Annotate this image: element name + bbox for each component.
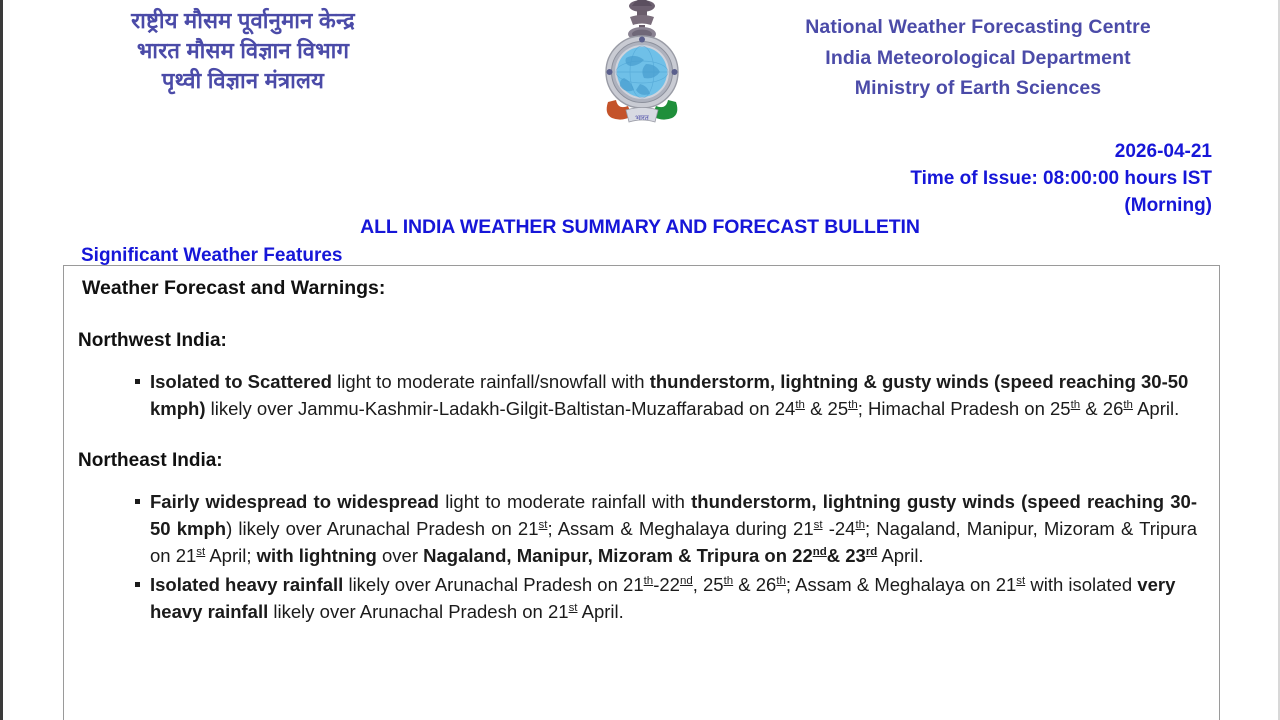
list-item: Fairly widespread to widespread light to… [78,488,1201,569]
issue-period: (Morning) [910,192,1212,219]
english-line-1: National Weather Forecasting Centre [768,12,1188,43]
significant-weather-features-heading: Significant Weather Features [81,245,343,267]
english-line-2: India Meteorological Department [768,43,1188,74]
india-meteorological-department-emblem-icon: भारत [596,0,688,128]
region-heading-northwest-india: Northwest India: [78,328,1201,354]
svg-text:भारत: भारत [635,114,650,122]
region-heading-northeast-india: Northeast India: [78,448,1201,474]
document-header: राष्ट्रीय मौसम पूर्वानुमान केन्द्र भारत … [0,0,1280,128]
issue-date: 2026-04-21 [910,138,1212,165]
bulletin-title: ALL INDIA WEATHER SUMMARY AND FORECAST B… [0,216,1280,239]
hindi-organisation-name: राष्ट्रीय मौसम पूर्वानुमान केन्द्र भारत … [78,6,408,96]
hindi-line-3: पृथ्वी विज्ञान मंत्रालय [78,66,408,96]
hindi-line-2: भारत मौसम विज्ञान विभाग [78,36,408,66]
english-line-3: Ministry of Earth Sciences [768,73,1188,104]
weather-bulletin-page: राष्ट्रीय मौसम पूर्वानुमान केन्द्र भारत … [0,0,1280,720]
hindi-line-1: राष्ट्रीय मौसम पूर्वानुमान केन्द्र [78,6,408,36]
list-item: Isolated heavy rainfall likely over Arun… [78,571,1201,625]
forecast-and-warnings-title: Weather Forecast and Warnings: [82,274,1201,302]
issue-time: Time of Issue: 08:00:00 hours IST [910,165,1212,192]
list-item: Isolated to Scattered light to moderate … [78,368,1201,422]
english-organisation-name: National Weather Forecasting Centre Indi… [768,12,1188,104]
issue-info: 2026-04-21 Time of Issue: 08:00:00 hours… [910,138,1212,219]
weather-content-box: Weather Forecast and Warnings: Northwest… [63,265,1220,720]
northeast-india-bullet-list: Fairly widespread to widespread light to… [78,488,1201,625]
northwest-india-bullet-list: Isolated to Scattered light to moderate … [78,368,1201,422]
